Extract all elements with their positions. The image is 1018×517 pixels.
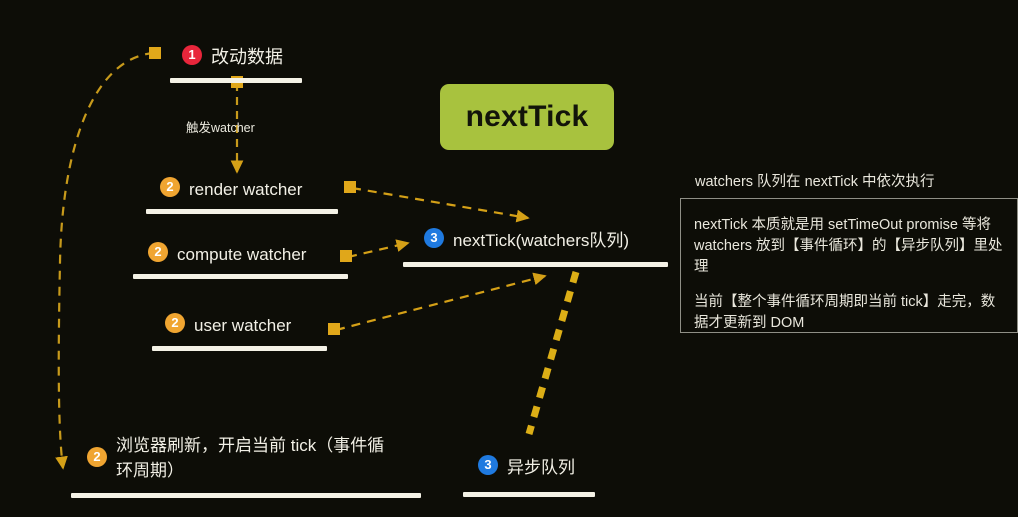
step-badge-3-async: 3 xyxy=(478,455,498,475)
step-badge-2-browser: 2 xyxy=(87,447,107,467)
node-change-data[interactable]: 1 改动数据 xyxy=(182,45,283,70)
node-change-data-label: 改动数据 xyxy=(211,45,283,70)
node-render-watcher[interactable]: 2 render watcher xyxy=(160,177,302,202)
node-browser-refresh-underline xyxy=(71,493,421,498)
step-badge-2-render: 2 xyxy=(160,177,180,197)
node-compute-watcher-underline xyxy=(133,274,348,279)
diagram-canvas: nextTick 1 改动数据 触发watcher 2 render watch… xyxy=(0,0,1018,517)
edge-change-data-to-browser-refresh xyxy=(59,47,161,468)
step-badge-3-nexttick: 3 xyxy=(424,228,444,248)
step-badge-2-user: 2 xyxy=(165,313,185,333)
node-render-watcher-underline xyxy=(146,209,338,214)
info-panel-paragraph-2: 当前【整个事件循环周期即当前 tick】走完，数据才更新到 DOM xyxy=(694,292,1006,334)
node-compute-watcher[interactable]: 2 compute watcher xyxy=(148,242,306,267)
node-user-watcher[interactable]: 2 user watcher xyxy=(165,313,291,338)
node-async-queue[interactable]: 3 异步队列 xyxy=(478,455,575,480)
node-nexttick-queue-label: nextTick(watchers队列) xyxy=(453,228,629,253)
info-panel-paragraph-1: nextTick 本质就是用 setTimeOut promise 等将 wat… xyxy=(694,215,1006,278)
node-browser-refresh[interactable]: 2 浏览器刷新，开启当前 tick（事件循 环周期） xyxy=(87,433,384,483)
node-user-watcher-label: user watcher xyxy=(194,313,291,338)
node-async-queue-label: 异步队列 xyxy=(507,455,575,480)
node-user-watcher-underline xyxy=(152,346,327,351)
node-nexttick-queue-underline xyxy=(403,262,668,267)
node-compute-watcher-label: compute watcher xyxy=(177,242,306,267)
edge-compute-watcher-to-nexttick xyxy=(340,243,408,262)
edge-label-trigger-watcher: 触发watcher xyxy=(186,117,255,136)
next-tick-title-text: nextTick xyxy=(466,100,589,134)
edge-user-watcher-to-nexttick xyxy=(328,276,545,335)
node-browser-refresh-label: 浏览器刷新，开启当前 tick（事件循 环周期） xyxy=(116,433,384,483)
node-render-watcher-label: render watcher xyxy=(189,177,302,202)
info-panel-caption: watchers 队列在 nextTick 中依次执行 xyxy=(695,172,935,192)
next-tick-title-pill: nextTick xyxy=(440,84,614,150)
node-async-queue-underline xyxy=(463,492,595,497)
edge-nexttick-to-async-queue xyxy=(529,272,576,434)
step-badge-2-compute: 2 xyxy=(148,242,168,262)
step-badge-1: 1 xyxy=(182,45,202,65)
node-nexttick-queue[interactable]: 3 nextTick(watchers队列) xyxy=(424,228,629,253)
node-change-data-underline xyxy=(170,78,302,83)
edge-render-watcher-to-nexttick xyxy=(344,181,528,218)
